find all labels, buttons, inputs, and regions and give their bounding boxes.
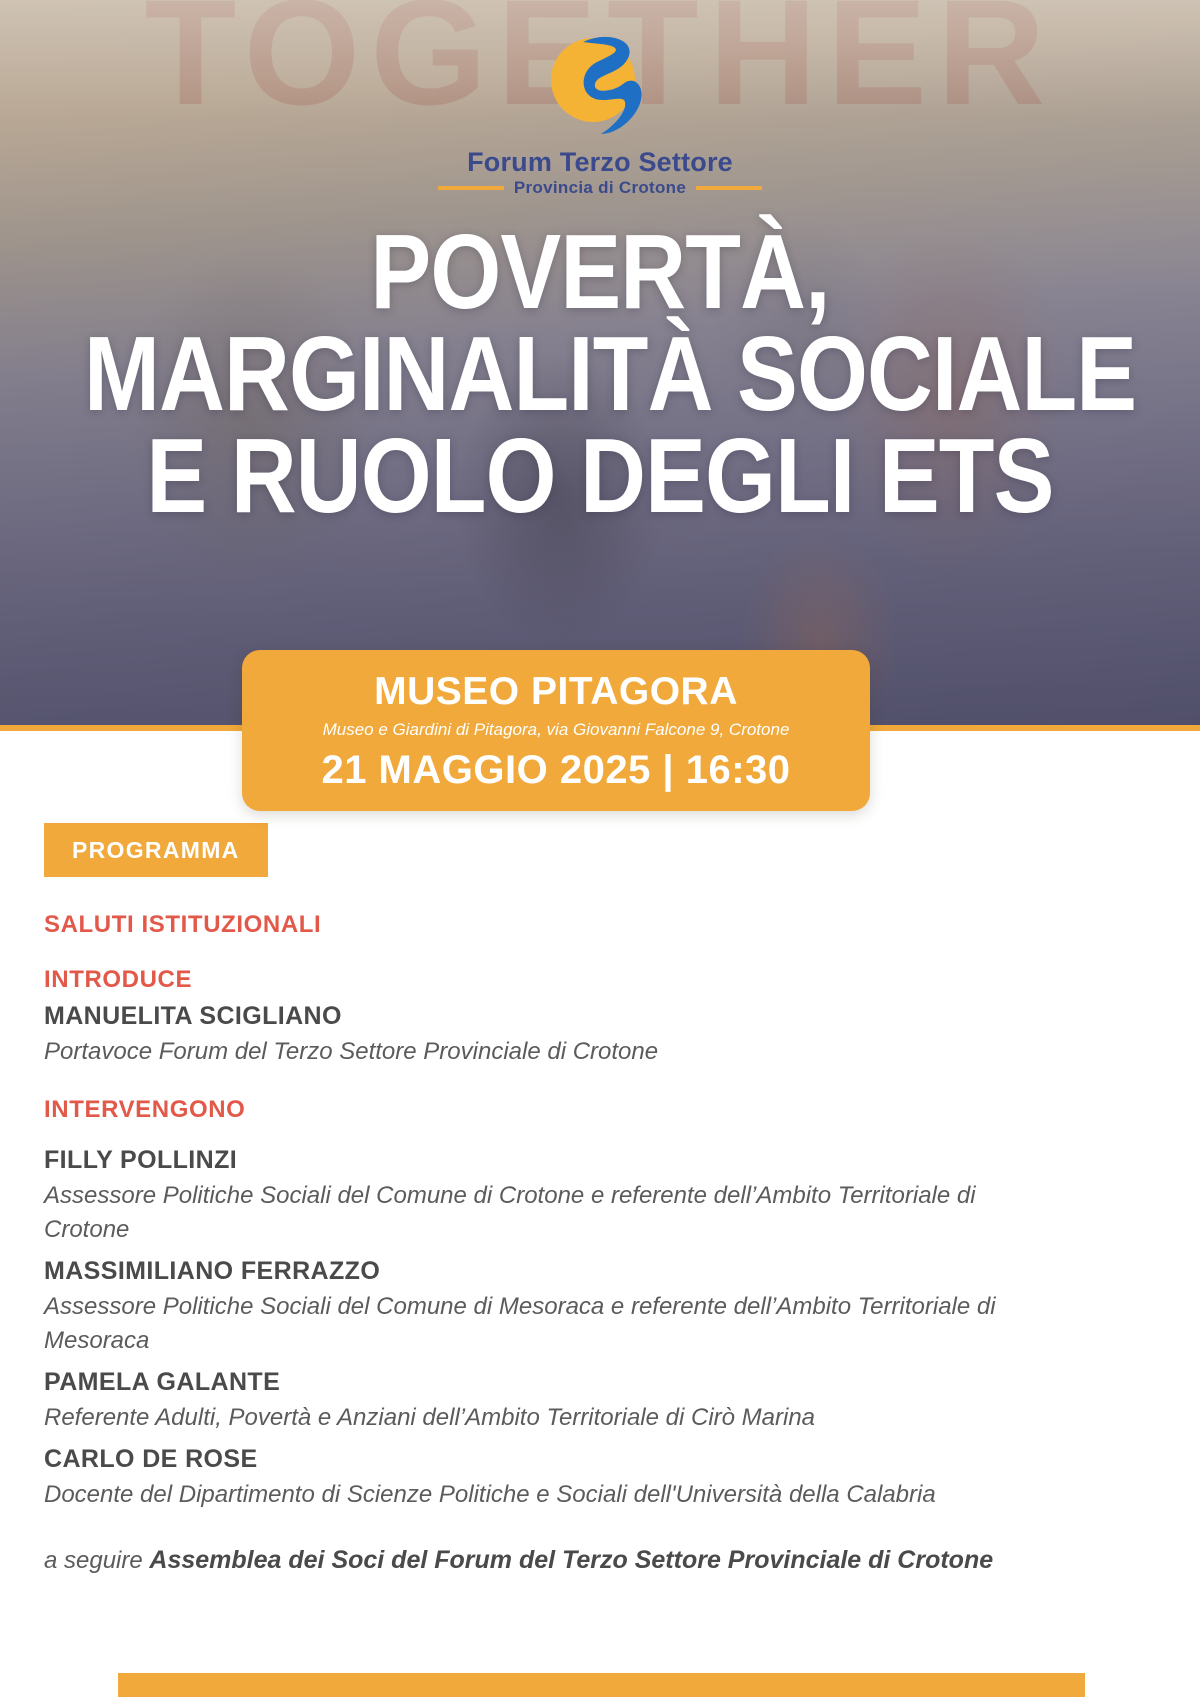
event-poster: TOGETHER Forum Terzo Settore Provincia d… bbox=[0, 0, 1200, 1697]
event-venue: MUSEO PITAGORA bbox=[266, 672, 846, 713]
speaker-role: Docente del Dipartimento di Scienze Poli… bbox=[44, 1478, 1034, 1512]
program-section: PROGRAMMA SALUTI ISTITUZIONALI INTRODUCE… bbox=[44, 823, 1056, 1578]
event-address: Museo e Giardini di Pitagora, via Giovan… bbox=[266, 719, 846, 740]
event-date-time: 21 MAGGIO 2025 | 16:30 bbox=[266, 749, 846, 791]
speakers-list: FILLY POLLINZI Assessore Politiche Socia… bbox=[44, 1146, 1056, 1512]
title-line-3: E RUOLO DEGLI ETS bbox=[84, 426, 1116, 528]
closing-prefix: a seguire bbox=[44, 1547, 149, 1574]
speaker-name: MASSIMILIANO FERRAZZO bbox=[44, 1257, 1056, 1286]
speaker-name: FILLY POLLINZI bbox=[44, 1146, 1056, 1175]
logo-rule-left bbox=[438, 186, 504, 190]
programma-badge: PROGRAMMA bbox=[44, 823, 268, 877]
speaker-item: CARLO DE ROSE Docente del Dipartimento d… bbox=[44, 1445, 1056, 1512]
section-heading-introduce: INTRODUCE bbox=[44, 966, 1056, 994]
closing-bold: Assemblea dei Soci del Forum del Terzo S… bbox=[149, 1546, 993, 1574]
logo-rule-right bbox=[696, 186, 762, 190]
section-heading-intervengono: INTERVENGONO bbox=[44, 1096, 1056, 1124]
logo-subtitle: Provincia di Crotone bbox=[514, 178, 686, 198]
speaker-name: CARLO DE ROSE bbox=[44, 1445, 1056, 1474]
speaker-role: Referente Adulti, Povertà e Anziani dell… bbox=[44, 1401, 1034, 1435]
poster-title: POVERTÀ, MARGINALITÀ SOCIALE E RUOLO DEG… bbox=[0, 222, 1200, 527]
introducer-name: MANUELITA SCIGLIANO bbox=[44, 1002, 1056, 1031]
logo-subtitle-row: Provincia di Crotone bbox=[0, 178, 1200, 198]
speaker-role: Assessore Politiche Sociali del Comune d… bbox=[44, 1290, 1034, 1358]
speaker-item: PAMELA GALANTE Referente Adulti, Povertà… bbox=[44, 1368, 1056, 1435]
logo-name: Forum Terzo Settore bbox=[0, 148, 1200, 176]
speaker-role: Assessore Politiche Sociali del Comune d… bbox=[44, 1179, 1034, 1247]
footer-accent-bar bbox=[118, 1673, 1085, 1697]
introducer-role: Portavoce Forum del Terzo Settore Provin… bbox=[44, 1035, 1034, 1069]
closing-note: a seguire Assemblea dei Soci del Forum d… bbox=[44, 1543, 1056, 1578]
speaker-name: PAMELA GALANTE bbox=[44, 1368, 1056, 1397]
title-line-2: MARGINALITÀ SOCIALE bbox=[84, 324, 1116, 426]
forum-terzo-settore-logo-icon bbox=[535, 22, 665, 142]
event-details-box: MUSEO PITAGORA Museo e Giardini di Pitag… bbox=[242, 650, 870, 811]
section-heading-saluti: SALUTI ISTITUZIONALI bbox=[44, 911, 1056, 939]
logo-block: Forum Terzo Settore Provincia di Crotone bbox=[0, 22, 1200, 198]
speaker-item: FILLY POLLINZI Assessore Politiche Socia… bbox=[44, 1146, 1056, 1247]
speaker-item: MASSIMILIANO FERRAZZO Assessore Politich… bbox=[44, 1257, 1056, 1358]
title-line-1: POVERTÀ, bbox=[84, 222, 1116, 324]
